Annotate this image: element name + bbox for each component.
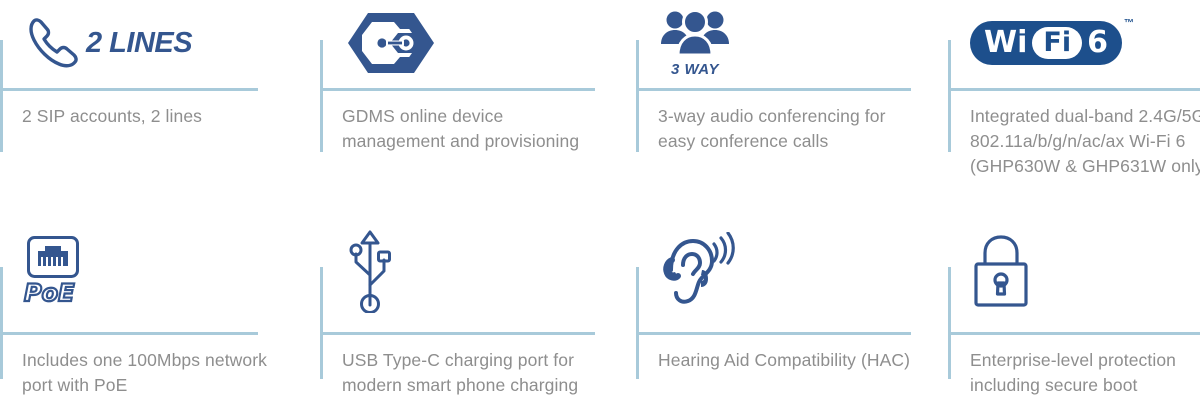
divider-horizontal bbox=[320, 332, 595, 335]
icon-container: Wi Fi 6 ™ bbox=[970, 0, 1122, 86]
feature-text: Integrated dual-band 2.4G/5G 802.11a/b/g… bbox=[970, 104, 1200, 179]
feature-text: Includes one 100Mbps network port with P… bbox=[22, 348, 268, 398]
feature-cell-gdms: GDMS online device management and provis… bbox=[320, 0, 636, 210]
icon-container: PoE bbox=[22, 228, 84, 314]
icon-label-3-way: 3 WAY bbox=[671, 61, 719, 78]
divider-vertical bbox=[636, 40, 639, 152]
feature-cell-3-way: 3 WAY 3-way audio conferencing for easy … bbox=[636, 0, 948, 210]
wifi-logo-fi: Fi bbox=[1032, 27, 1082, 59]
wifi-6-logo-icon: Wi Fi 6 ™ bbox=[970, 21, 1122, 65]
poe-ethernet-port-icon bbox=[26, 235, 80, 279]
icon-container bbox=[970, 228, 1032, 314]
trademark-icon: ™ bbox=[1124, 18, 1134, 29]
divider-vertical bbox=[948, 267, 951, 379]
divider-horizontal bbox=[0, 88, 258, 91]
icon-container bbox=[342, 228, 398, 314]
icon-label-2-lines: 2 LINES bbox=[86, 27, 192, 60]
poe-label: PoE bbox=[24, 279, 75, 307]
feature-grid: 2 LINES 2 SIP accounts, 2 lines bbox=[0, 0, 1200, 413]
phone-handset-2-lines-icon bbox=[22, 12, 84, 74]
wifi-logo-six: 6 bbox=[1087, 28, 1108, 58]
feature-text: GDMS online device management and provis… bbox=[342, 104, 610, 154]
feature-text: Hearing Aid Compatibility (HAC) bbox=[658, 348, 926, 373]
divider-horizontal bbox=[948, 332, 1200, 335]
divider-horizontal bbox=[636, 88, 911, 91]
feature-cell-2-lines: 2 LINES 2 SIP accounts, 2 lines bbox=[0, 0, 320, 210]
divider-horizontal bbox=[0, 332, 258, 335]
divider-vertical bbox=[320, 40, 323, 152]
usb-trident-icon bbox=[342, 229, 398, 313]
icon-container: 3 WAY bbox=[658, 0, 732, 86]
icon-container: 2 LINES bbox=[22, 0, 192, 86]
feature-cell-security: Enterprise-level protection including se… bbox=[948, 210, 1200, 413]
feature-cell-wifi6: Wi Fi 6 ™ Integrated dual-band 2.4G/5G 8… bbox=[948, 0, 1200, 210]
divider-vertical bbox=[0, 40, 3, 152]
feature-text: 2 SIP accounts, 2 lines bbox=[22, 104, 268, 129]
feature-cell-poe: PoE Includes one 100Mbps network port wi… bbox=[0, 210, 320, 413]
ear-hearing-aid-icon bbox=[658, 232, 736, 310]
feature-text: Enterprise-level protection including se… bbox=[970, 348, 1200, 398]
padlock-icon bbox=[970, 233, 1032, 309]
poe-text-icon: PoE bbox=[22, 279, 84, 307]
wifi-logo-wi: Wi bbox=[984, 28, 1027, 58]
gdms-hexagon-icon bbox=[342, 11, 440, 75]
icon-container bbox=[658, 228, 736, 314]
icon-container bbox=[342, 0, 440, 86]
divider-vertical bbox=[636, 267, 639, 379]
divider-vertical bbox=[0, 267, 3, 379]
feature-text: 3-way audio conferencing for easy confer… bbox=[658, 104, 926, 154]
three-people-icon bbox=[658, 9, 732, 61]
divider-vertical bbox=[948, 40, 951, 152]
feature-cell-usb: USB Type-C charging port for modern smar… bbox=[320, 210, 636, 413]
feature-cell-hac: Hearing Aid Compatibility (HAC) bbox=[636, 210, 948, 413]
divider-horizontal bbox=[948, 88, 1200, 91]
divider-horizontal bbox=[320, 88, 595, 91]
divider-horizontal bbox=[636, 332, 911, 335]
divider-vertical bbox=[320, 267, 323, 379]
feature-text: USB Type-C charging port for modern smar… bbox=[342, 348, 610, 398]
